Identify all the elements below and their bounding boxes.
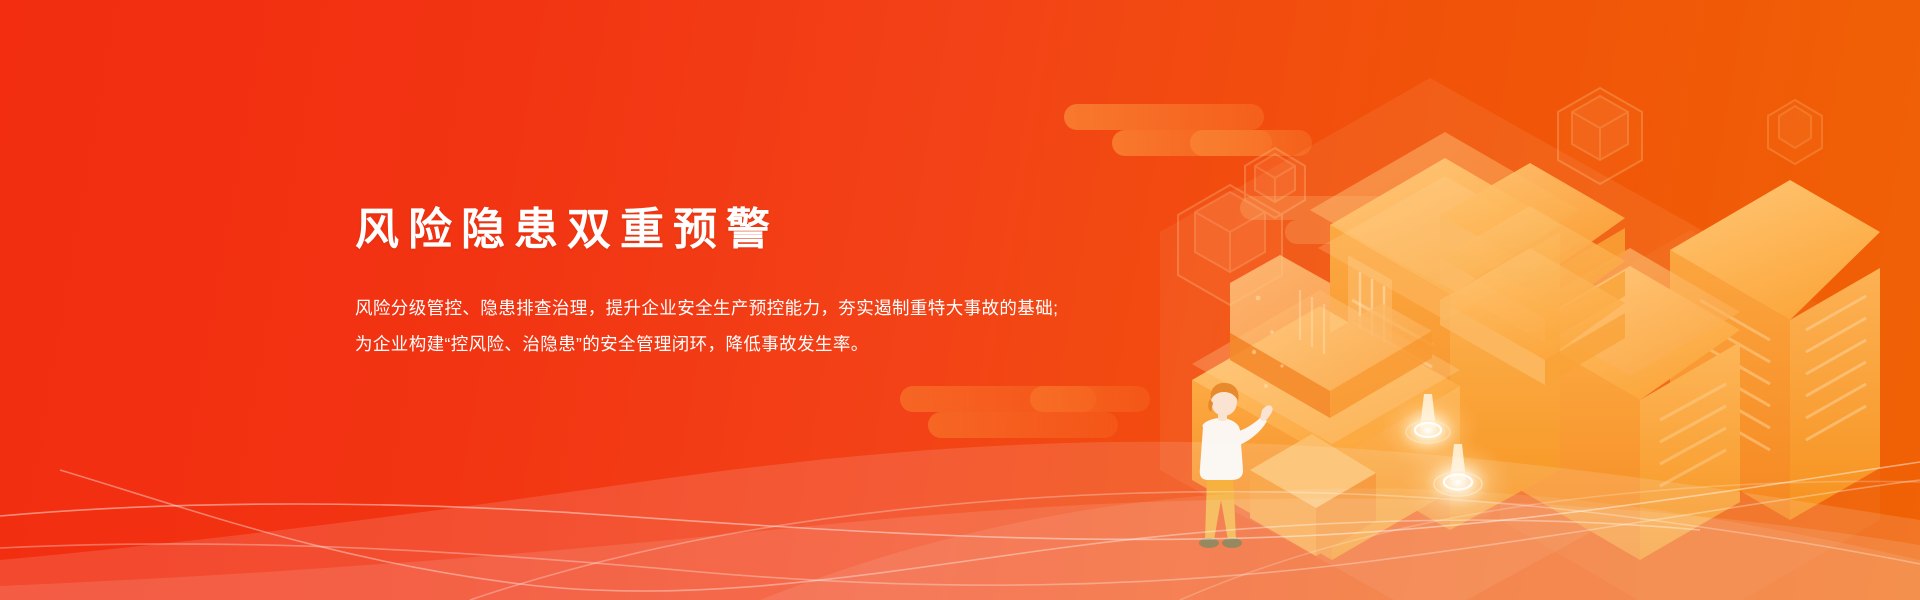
cloud-icon-1 — [1064, 104, 1312, 156]
person-shirt — [1200, 418, 1243, 480]
cloud-icon-2 — [900, 386, 1150, 438]
cube-icon-2 — [1245, 148, 1305, 218]
page-title: 风险隐患双重预警 — [355, 205, 1058, 256]
person-shoe-right — [1222, 538, 1242, 548]
glow-marker-1 — [1376, 388, 1480, 472]
platform-block — [1192, 290, 1460, 560]
person-hair — [1211, 383, 1239, 401]
background-slab — [1395, 120, 1700, 345]
person-hand — [1260, 405, 1273, 420]
wave-line-2 — [60, 470, 1700, 591]
wave-fill-group — [0, 442, 1920, 600]
wave-line-group — [0, 462, 1920, 600]
wave-line-5 — [1180, 481, 1920, 600]
cube-icon-4 — [1768, 100, 1822, 164]
hero-banner: 风险隐患双重预警 风险分级管控、隐患排查治理，提升企业安全生产预控能力，夯实遏制… — [0, 0, 1920, 600]
wave-line-1 — [0, 462, 1920, 539]
glow-marker-2 — [1402, 437, 1514, 527]
person-head — [1211, 388, 1237, 416]
person-pants — [1205, 475, 1236, 540]
cube-icon-1 — [1178, 185, 1282, 305]
wave-line-4 — [470, 492, 1920, 600]
server-tower-right — [1670, 180, 1880, 520]
wave-fill-2 — [0, 498, 1920, 600]
hero-subtitle-line-1: 风险分级管控、隐患排查治理，提升企业安全生产预控能力，夯实遏制重特大事故的基础; — [355, 290, 1058, 326]
wave-fill-1 — [0, 442, 1920, 600]
small-box — [1250, 434, 1376, 556]
background-hex-right — [1500, 230, 1880, 600]
cube-icon-3 — [1558, 88, 1642, 184]
server-stack-steps — [1440, 163, 1625, 385]
server-block-mid-right — [1520, 248, 1740, 560]
person-figure — [1199, 383, 1273, 548]
sparkle-dots — [1252, 296, 1284, 388]
cross-slab — [1230, 255, 1432, 418]
wave-line-3 — [0, 480, 1920, 585]
hero-subtitle-line-2: 为企业构建“控风险、治隐患”的安全管理闭环，降低事故发生率。 — [355, 326, 1058, 362]
server-tower-center — [1310, 132, 1580, 530]
person-arm — [1236, 417, 1267, 445]
cloud-icon-3 — [1240, 196, 1435, 244]
wave-fill-3 — [760, 488, 1920, 600]
hero-subtitle: 风险分级管控、隐患排查治理，提升企业安全生产预控能力，夯实遏制重特大事故的基础;… — [355, 290, 1058, 362]
background-hex-large — [1160, 78, 1705, 600]
hero-text-block: 风险隐患双重预警 风险分级管控、隐患排查治理，提升企业安全生产预控能力，夯实遏制… — [355, 205, 1058, 362]
person-shoe-left — [1199, 538, 1219, 548]
